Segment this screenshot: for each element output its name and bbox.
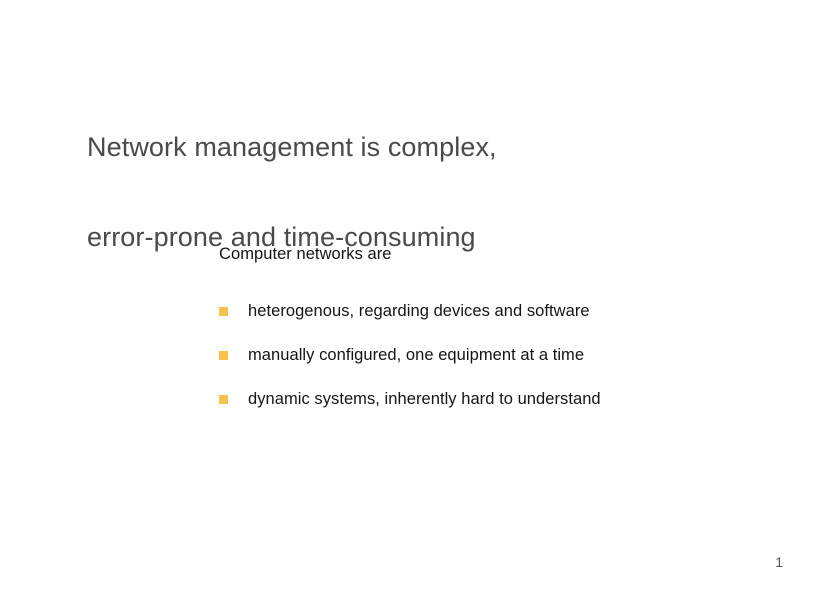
square-bullet-icon: [219, 395, 228, 404]
square-bullet-icon: [219, 351, 228, 360]
bullet-item-label: dynamic systems, inherently hard to unde…: [248, 388, 601, 410]
body-lead-text: Computer networks are: [219, 243, 779, 265]
slide-title-line-1: Network management is complex,: [87, 125, 747, 170]
page-number: 1: [775, 554, 783, 570]
list-item: dynamic systems, inherently hard to unde…: [219, 388, 779, 432]
slide-body: Computer networks are heterogenous, rega…: [219, 243, 779, 432]
bullet-list: heterogenous, regarding devices and soft…: [219, 300, 779, 432]
square-bullet-icon: [219, 307, 228, 316]
bullet-item-label: manually configured, one equipment at a …: [248, 344, 584, 366]
bullet-item-label: heterogenous, regarding devices and soft…: [248, 300, 590, 322]
list-item: manually configured, one equipment at a …: [219, 344, 779, 388]
presentation-slide: Network management is complex, error-pro…: [0, 0, 817, 613]
list-item: heterogenous, regarding devices and soft…: [219, 300, 779, 344]
